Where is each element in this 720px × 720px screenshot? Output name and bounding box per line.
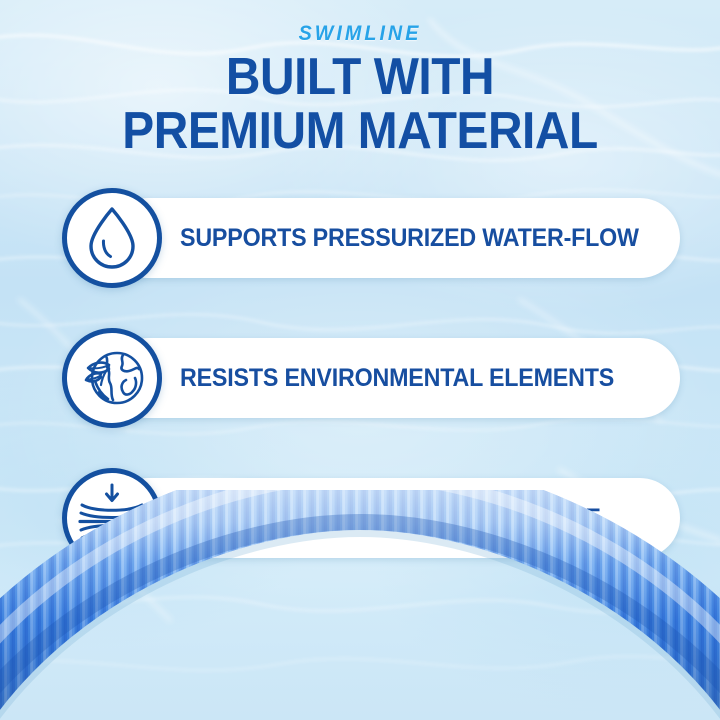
feature-row: RESISTS ENVIRONMENTAL ELEMENTS <box>0 328 720 428</box>
feature-list: SUPPORTS PRESSURIZED WATER-FLOW RESISTS … <box>0 188 720 608</box>
poster-canvas: SWIMLINE BUILT WITH PREMIUM MATERIAL SUP… <box>0 0 720 720</box>
headline-line-1: BUILT WITH <box>29 52 691 103</box>
feature-row: FLEXIBLE MATERIAL, YET KINK FREE <box>0 468 720 568</box>
feature-label: RESISTS ENVIRONMENTAL ELEMENTS <box>180 338 614 418</box>
feature-label: SUPPORTS PRESSURIZED WATER-FLOW <box>180 198 639 278</box>
headline-line-2: PREMIUM MATERIAL <box>29 106 691 157</box>
flexible-compression-icon <box>62 468 162 568</box>
feature-row: SUPPORTS PRESSURIZED WATER-FLOW <box>0 188 720 288</box>
feature-label: FLEXIBLE MATERIAL, YET KINK FREE <box>180 478 601 558</box>
page-title: BUILT WITH PREMIUM MATERIAL <box>0 52 720 157</box>
globe-leaf-icon <box>62 328 162 428</box>
water-droplet-icon <box>62 188 162 288</box>
brand-logo: SWIMLINE <box>22 22 699 46</box>
